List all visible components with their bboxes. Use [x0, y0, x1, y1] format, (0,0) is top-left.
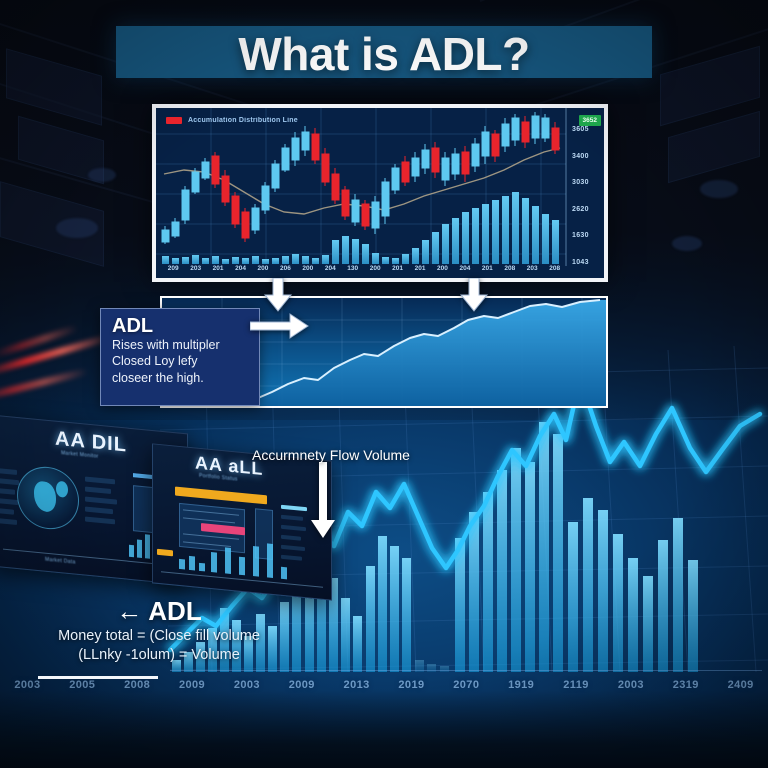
x-tick: 201 [409, 265, 431, 272]
accumulation-flow-arrow-icon [308, 462, 338, 540]
adl-callout-line: closeer the high. [112, 370, 250, 386]
x-tick: 204 [229, 265, 251, 272]
x-tick: 201 [207, 265, 229, 272]
candlestick-svg [156, 108, 604, 278]
monitor-left-footer: Market Data [45, 557, 76, 566]
x-tick: 206 [274, 265, 296, 272]
x-tick: 203 [184, 265, 206, 272]
formula-line: (LLnky -1olum) = Volume [24, 646, 294, 665]
left-arrow-icon: ← [116, 596, 142, 627]
main-axis-baseline [170, 670, 762, 671]
volume-bars [162, 192, 559, 264]
adl-callout-heading: ADL [112, 316, 250, 337]
formula-line: Money total = (Close fill volume [24, 627, 294, 646]
top-chart-y-axis: 3605 3400 3030 2620 1630 1043 [568, 126, 602, 266]
x-tick: 203 [521, 265, 543, 272]
formula-heading: ADL [148, 596, 201, 627]
y-tick: 1630 [568, 232, 589, 239]
highlight-bar [175, 487, 267, 505]
y-tick: 3605 [568, 126, 589, 133]
x-tick: 200 [252, 265, 274, 272]
adl-callout-line: Rises with multipler [112, 337, 250, 353]
globe-graphic [17, 464, 79, 532]
x-tick: 204 [319, 265, 341, 272]
y-tick: 1043 [568, 259, 589, 266]
x-tick: 208 [543, 265, 565, 272]
chart-legend: Accumulation Distribution Line [166, 117, 298, 124]
y-tick: 3030 [568, 179, 589, 186]
right-arrow-icon [250, 312, 310, 340]
bottom-fade [0, 690, 768, 768]
accumulation-flow-label: Accurmnety Flow Volume [252, 447, 410, 463]
page-title: What is ADL? [116, 18, 652, 90]
x-tick: 130 [342, 265, 364, 272]
legend-swatch-icon [166, 117, 182, 124]
y-tick: 3400 [568, 153, 589, 160]
legend-label: Accumulation Distribution Line [188, 117, 298, 124]
adl-callout-line: Closed Loy lefy [112, 353, 250, 369]
x-tick: 200 [364, 265, 386, 272]
down-arrow-left-icon [262, 278, 294, 312]
top-chart-x-axis: 209 203 201 204 200 206 200 204 130 200 … [162, 261, 566, 275]
infographic-canvas: 2003 2005 2008 2009 2003 2009 2013 2019 … [0, 0, 768, 768]
x-tick: 201 [386, 265, 408, 272]
x-tick: 201 [476, 265, 498, 272]
monitor-right: AA aLL Portfolio Status [152, 443, 332, 600]
adl-callout-box: ADL Rises with multipler Closed Loy lefy… [100, 308, 260, 406]
top-candlestick-panel: Accumulation Distribution Line 3652 3605… [152, 104, 608, 282]
y-tick: 2620 [568, 206, 589, 213]
down-arrow-right-icon [458, 278, 490, 312]
x-tick: 200 [431, 265, 453, 272]
x-tick: 200 [297, 265, 319, 272]
x-tick: 208 [499, 265, 521, 272]
x-tick: 204 [454, 265, 476, 272]
formula-heading-row: ← ADL [24, 596, 294, 627]
formula-underline [38, 676, 158, 679]
formula-callout: ← ADL Money total = (Close fill volume (… [24, 596, 294, 664]
price-badge: 3652 [579, 115, 601, 126]
x-tick: 209 [162, 265, 184, 272]
